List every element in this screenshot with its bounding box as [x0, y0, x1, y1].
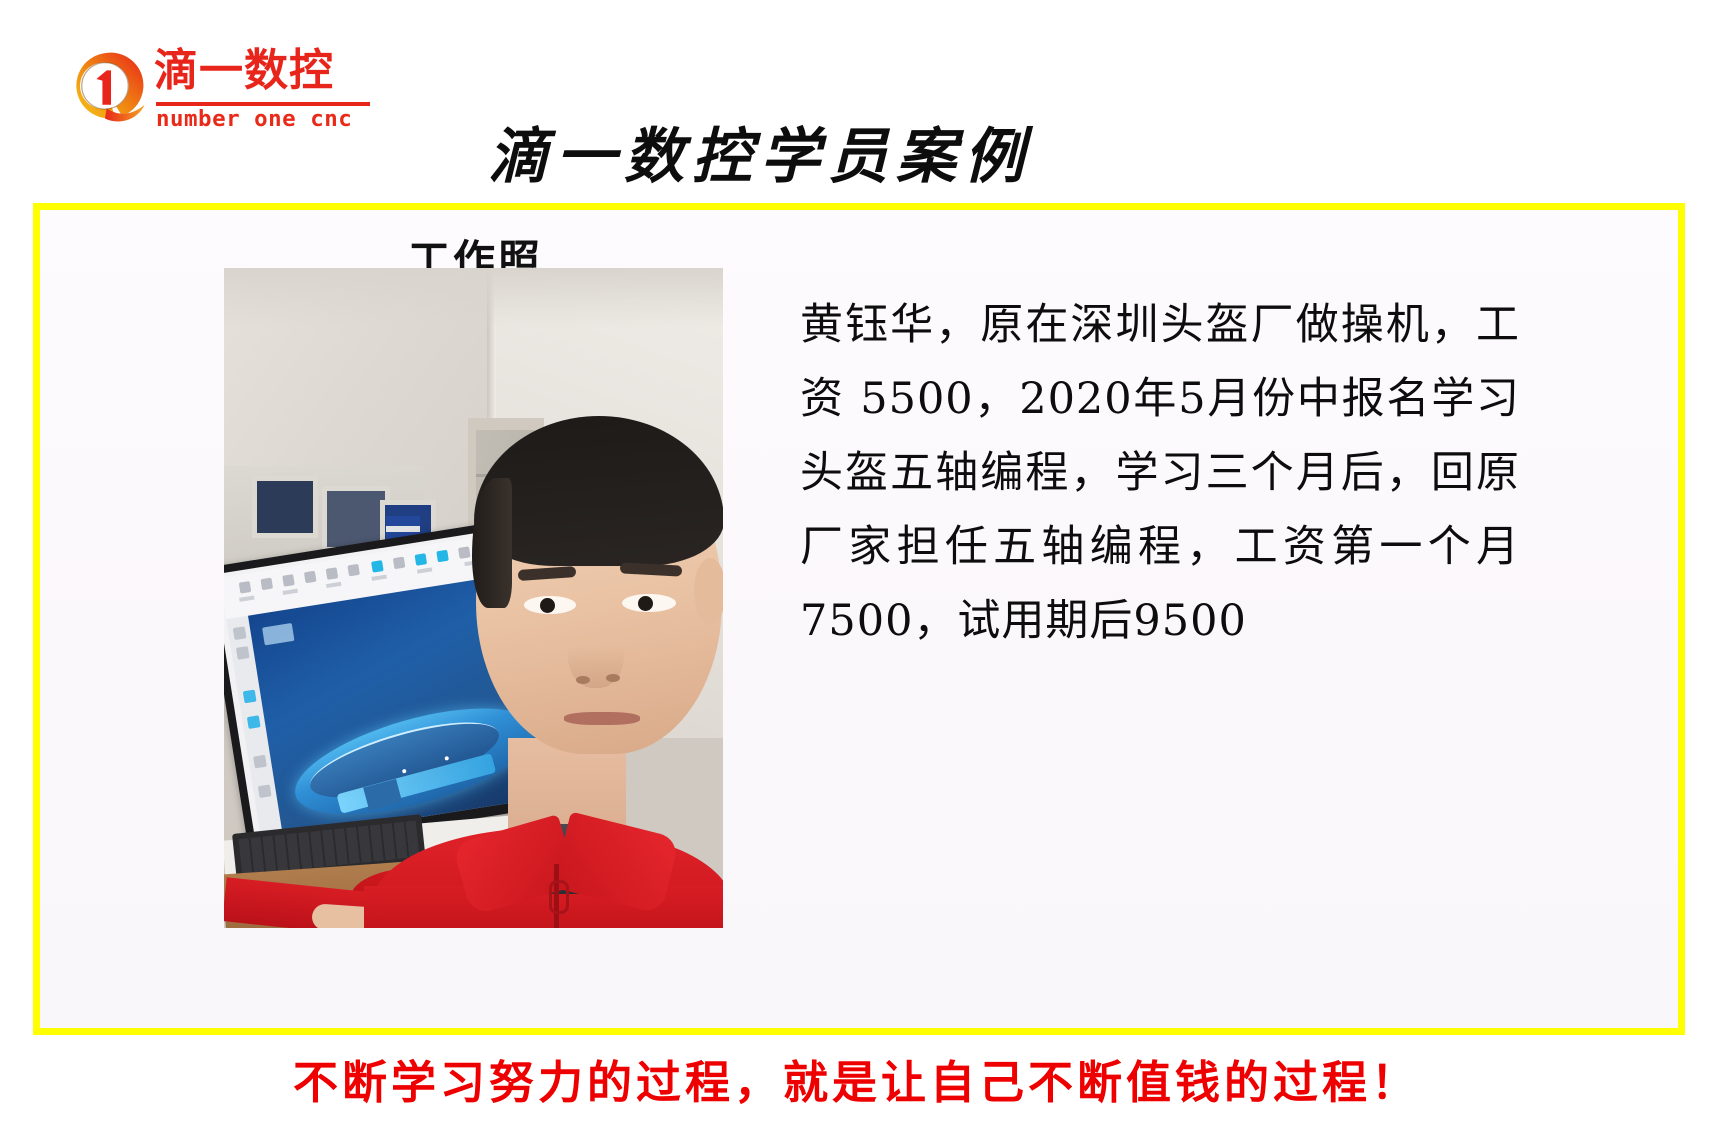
- brand-logo: 滴一数控 number one cnc: [62, 44, 372, 139]
- photo-person-eye-right: [622, 594, 676, 612]
- logo-mark-icon: [62, 48, 148, 134]
- footer-slogan: 不断学习努力的过程，就是让自己不断值钱的过程！: [0, 1046, 1713, 1111]
- photo-person-nostril-left: [576, 676, 590, 684]
- photo-person-mouth: [564, 712, 640, 725]
- photo-person-ear: [694, 558, 723, 624]
- photo-ceiling-shadow: [224, 268, 723, 328]
- photo-person-nostril-right: [606, 674, 620, 682]
- logo-wordmark: 滴一数控 number one cnc: [154, 44, 374, 136]
- logo-chinese-text: 滴一数控: [154, 46, 334, 96]
- case-body-text: 黄钰华，原在深圳头盔厂做操机，工资 5500，2020年5月份中报名学习头盔五轴…: [800, 288, 1520, 658]
- photo-cad-label-tag: [262, 623, 294, 645]
- photo-person-eye-left: [524, 596, 576, 614]
- logo-english-text: number one cnc: [156, 106, 352, 134]
- photo-person-zipper-pull: [549, 880, 569, 914]
- photo-cabinet-binder-label: [386, 526, 420, 532]
- photo-cabinet-pane-1: [252, 476, 318, 538]
- page-title: 滴一数控学员案例: [440, 108, 1080, 195]
- student-work-photo: [224, 268, 723, 928]
